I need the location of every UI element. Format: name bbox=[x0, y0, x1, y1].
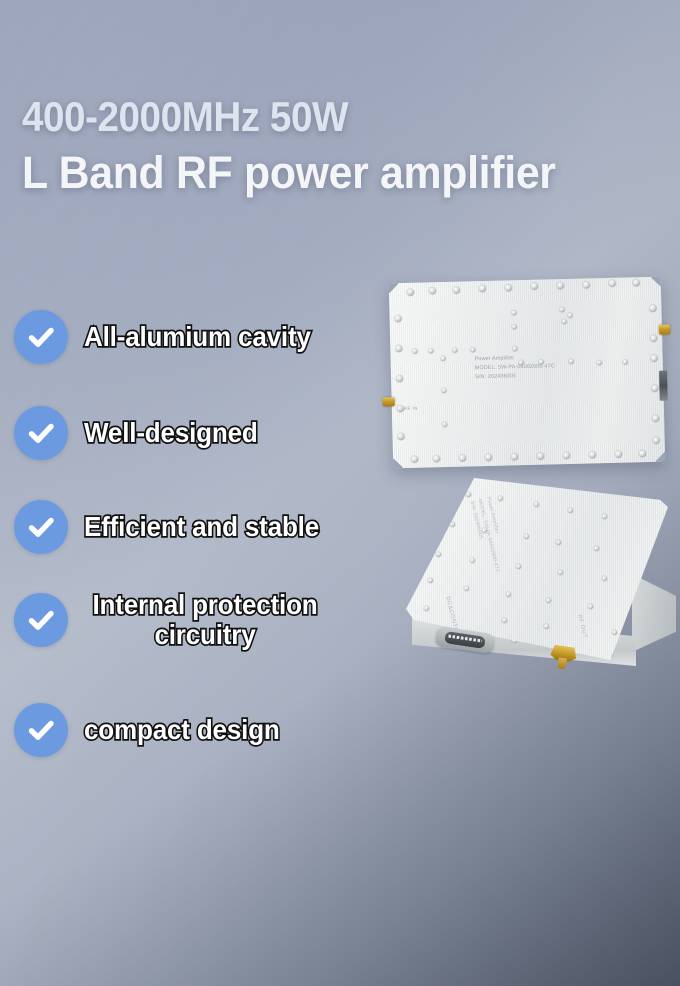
feature-label: compact design bbox=[84, 715, 280, 745]
product-image-top: Power Amplifier MODEL: 5W-PA-04002000-47… bbox=[389, 277, 665, 469]
product-image-bottom: Power Amplifier MODEL: 5W-PA-04002000-47… bbox=[400, 478, 680, 723]
sma-connector-rf-in bbox=[383, 397, 395, 406]
headline-line-1: 400-2000MHz 50W bbox=[22, 96, 629, 138]
check-icon bbox=[14, 310, 68, 364]
dc-control-connector bbox=[659, 371, 668, 401]
feature-label: Internal protection circuitry bbox=[92, 590, 317, 650]
check-icon bbox=[14, 593, 68, 647]
feature-label: Efficient and stable bbox=[84, 512, 319, 542]
headline-block: 400-2000MHz 50W L Band RF power amplifie… bbox=[22, 96, 680, 195]
product-poster: 400-2000MHz 50W L Band RF power amplifie… bbox=[0, 0, 680, 986]
feature-item-1: All-alumium cavity bbox=[14, 310, 328, 364]
check-icon bbox=[14, 703, 68, 757]
amplifier-side-face bbox=[632, 574, 676, 652]
dsub-shell bbox=[444, 631, 485, 649]
check-icon bbox=[14, 500, 68, 554]
check-icon bbox=[14, 406, 68, 460]
sma-connector-rf-out bbox=[659, 324, 670, 334]
feature-item-2: Well-designed bbox=[14, 406, 271, 460]
sma-connector-bottom bbox=[548, 644, 577, 672]
dsub-pins bbox=[448, 635, 482, 643]
product-label-top: Power Amplifier MODEL: 5W-PA-04002000-47… bbox=[475, 353, 556, 382]
feature-label: Well-designed bbox=[84, 418, 258, 448]
feature-item-5: compact design bbox=[14, 703, 294, 757]
feature-item-3: Efficient and stable bbox=[14, 500, 337, 554]
feature-label: All-alumium cavity bbox=[84, 322, 311, 352]
sma-pin bbox=[557, 657, 567, 669]
headline-line-2: L Band RF power amplifier bbox=[22, 150, 649, 195]
feature-item-4: Internal protection circuitry bbox=[14, 590, 326, 650]
rf-in-label: RF IN bbox=[404, 406, 418, 411]
amplifier-housing-top: Power Amplifier MODEL: 5W-PA-04002000-47… bbox=[389, 277, 665, 469]
